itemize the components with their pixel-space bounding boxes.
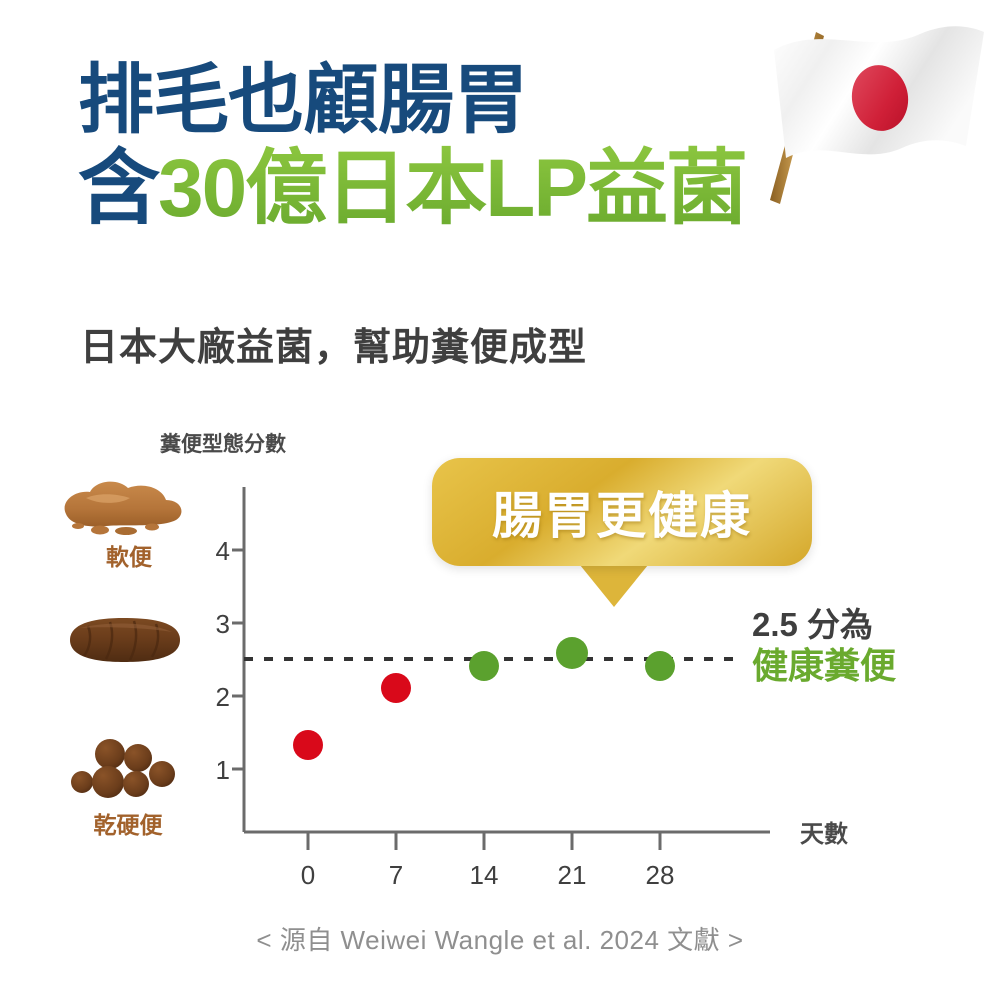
data-point-day-0 [293, 730, 323, 760]
stool-score-chart: 糞便型態分數 [0, 410, 1000, 910]
threshold-note-line-1: 2.5 分為 [752, 606, 982, 645]
subtitle: 日本大廠益菌，幫助糞便成型 [80, 316, 587, 371]
citation: < 源自 Weiwei Wangle et al. 2024 文獻 > [0, 920, 1000, 957]
headline-highlight: 30億日本LP益菌 [158, 143, 746, 234]
speech-bubble-tail [580, 565, 648, 607]
data-point-day-14 [469, 651, 499, 681]
threshold-note-line-2: 健康糞便 [752, 645, 982, 687]
speech-bubble-text: 腸胃更健康 [492, 476, 752, 548]
japan-flag [752, 18, 992, 208]
japan-flag-svg [752, 18, 992, 208]
threshold-note: 2.5 分為 健康糞便 [752, 606, 982, 687]
speech-bubble: 腸胃更健康 [432, 458, 812, 566]
data-point-day-21 [556, 637, 588, 669]
headline-prefix: 含 [78, 143, 158, 234]
data-point-day-28 [645, 651, 675, 681]
data-point-day-7 [381, 673, 411, 703]
